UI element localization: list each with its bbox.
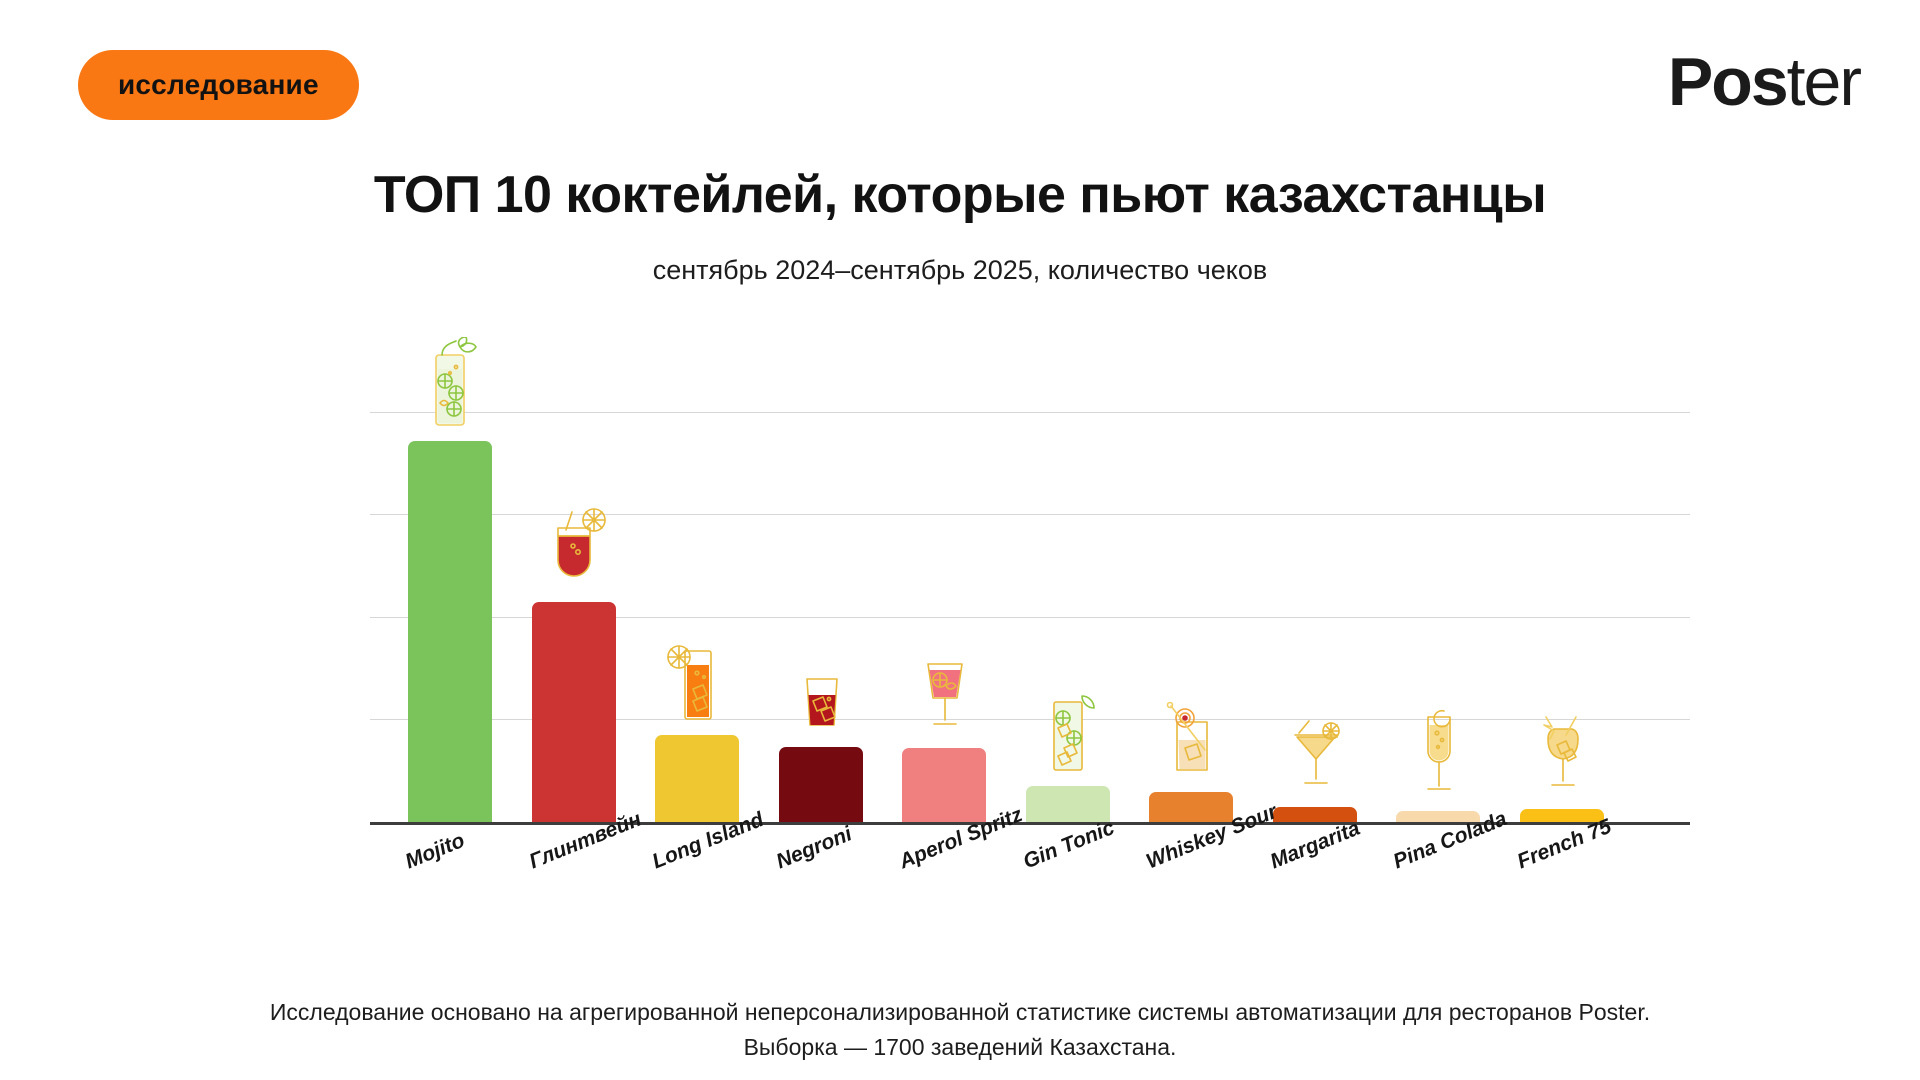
bar-group[interactable] xyxy=(779,747,863,822)
bar-group[interactable] xyxy=(1026,786,1110,822)
bar-group[interactable] xyxy=(655,735,739,822)
x-axis-label: Negroni xyxy=(773,822,856,874)
poster-logo-bold: Pos xyxy=(1668,44,1787,120)
footer-line-1: Исследование основано на агрегированной … xyxy=(0,995,1920,1030)
infographic-page: исследование Poster ТОП 10 коктейлей, ко… xyxy=(0,0,1920,1080)
french-75-hurricane-icon xyxy=(1524,705,1600,801)
bar-chart: MojitoГлинтвейнLong IslandNegroniAperol … xyxy=(370,340,1690,840)
bar-group[interactable] xyxy=(532,602,616,822)
poster-logo: Poster xyxy=(1668,48,1860,116)
x-axis-label: Margarita xyxy=(1267,817,1364,875)
bar[interactable] xyxy=(532,602,616,822)
footer-note: Исследование основано на агрегированной … xyxy=(0,995,1920,1064)
bar-series xyxy=(370,340,1690,823)
poster-logo-light: ter xyxy=(1787,44,1860,120)
bar-group[interactable] xyxy=(902,748,986,822)
research-badge-label: исследование xyxy=(118,69,319,101)
bar[interactable] xyxy=(1026,786,1110,822)
mojito-highball-icon xyxy=(412,337,488,433)
long-island-highball-icon xyxy=(659,631,735,727)
mulled-wine-glass-icon xyxy=(536,498,612,594)
margarita-coupe-icon xyxy=(1277,703,1353,799)
bar[interactable] xyxy=(1149,792,1233,822)
plot-area xyxy=(370,340,1690,823)
aperol-spritz-wine-glass-icon xyxy=(906,644,982,740)
research-badge: исследование xyxy=(78,50,359,120)
bar-group[interactable] xyxy=(408,441,492,822)
bar[interactable] xyxy=(779,747,863,822)
gin-tonic-highball-icon xyxy=(1030,682,1106,778)
bar-group[interactable] xyxy=(1149,792,1233,822)
negroni-rocks-icon xyxy=(783,643,859,739)
pina-colada-flute-icon xyxy=(1400,707,1476,803)
bar[interactable] xyxy=(408,441,492,822)
page-title: ТОП 10 коктейлей, которые пьют казахстан… xyxy=(0,165,1920,225)
whiskey-sour-rocks-icon xyxy=(1153,688,1229,784)
page-subtitle: сентябрь 2024–сентябрь 2025, количество … xyxy=(0,255,1920,286)
bar[interactable] xyxy=(902,748,986,822)
x-axis-label: Mojito xyxy=(402,829,468,874)
footer-line-2: Выборка — 1700 заведений Казахстана. xyxy=(0,1030,1920,1065)
bar[interactable] xyxy=(655,735,739,822)
